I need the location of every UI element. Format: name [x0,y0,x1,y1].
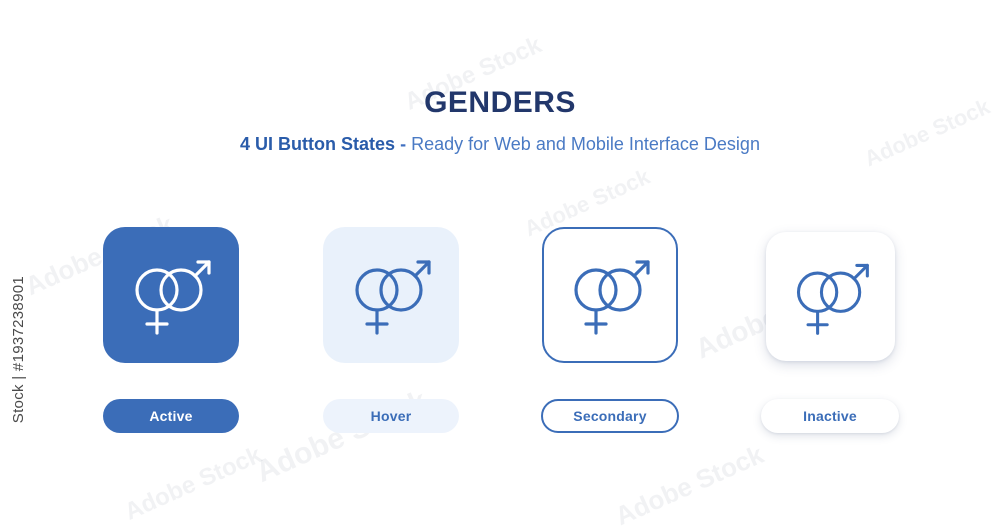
watermark-tile: Adobe Stock [121,441,266,526]
poster-canvas: Adobe Stock Adobe Stock Adobe Stock Adob… [0,0,1000,526]
watermark-tile: Adobe Stock [611,439,769,532]
gender-symbols-icon [125,249,217,341]
subtitle-rest: Ready for Web and Mobile Interface Desig… [411,134,760,154]
state-button-secondary[interactable]: Secondary [541,399,679,433]
gender-symbols-icon [787,253,875,341]
state-tile-secondary[interactable] [542,227,678,363]
page-title: GENDERS [0,86,1000,119]
stock-id-watermark: Stock | #1937238901 [10,276,27,423]
gender-symbols-icon [564,249,656,341]
state-button-inactive[interactable]: Inactive [761,399,899,433]
state-tile-inactive[interactable] [766,232,895,361]
state-tile-hover[interactable] [323,227,459,363]
subtitle-strong: 4 UI Button States [240,134,395,154]
subtitle-separator: - [400,134,406,154]
gender-symbols-icon [345,249,437,341]
state-button-active[interactable]: Active [103,399,239,433]
state-button-hover[interactable]: Hover [323,399,459,433]
state-tile-active[interactable] [103,227,239,363]
page-subtitle: 4 UI Button States - Ready for Web and M… [0,134,1000,156]
